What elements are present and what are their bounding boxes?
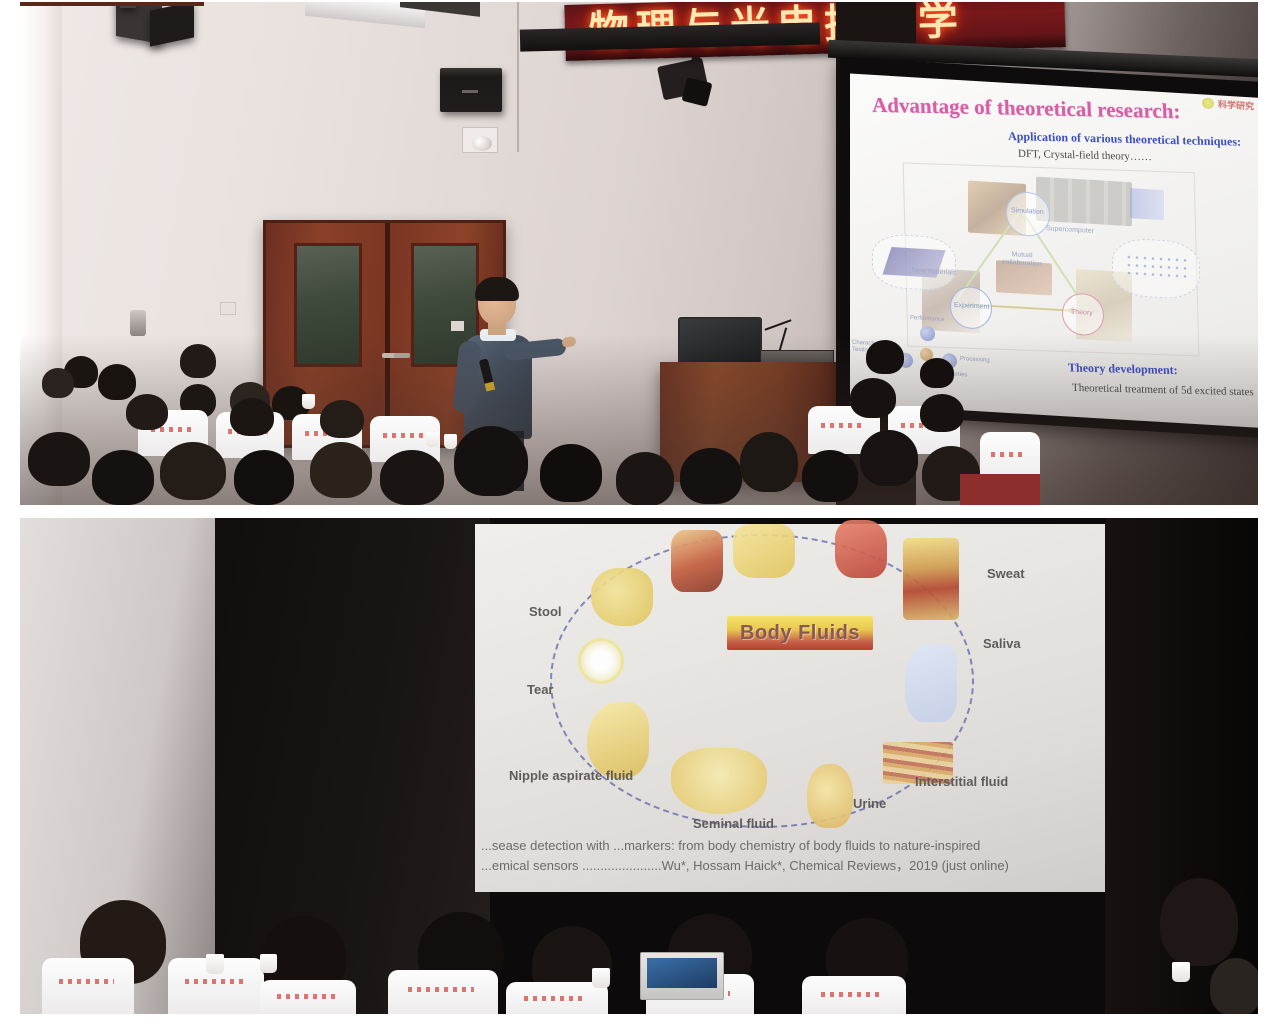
bottom-photo-panel: Body Fluids Stool Tear Nipple aspirate f…: [20, 518, 1258, 1014]
audience-head: [42, 368, 74, 398]
wall-cable: [517, 2, 519, 152]
audience-head: [920, 394, 964, 432]
audience-chair: [42, 958, 134, 1014]
slide-title: Advantage of theoretical research:: [872, 93, 1181, 125]
slide-center-title: Body Fluids: [727, 616, 873, 650]
audience-head: [1160, 878, 1238, 966]
audience-head: [28, 432, 90, 486]
photo-collage: 物理与光电技术学: [0, 0, 1280, 1024]
slide-label-saliva: Saliva: [983, 636, 1021, 651]
citation-line-2: ...emical sensors ......................…: [481, 856, 1101, 876]
slide-citation: ...sease detection with ...markers: from…: [481, 836, 1101, 876]
slide-label-nipple-aspirate-fluid: Nipple aspirate fluid: [509, 768, 633, 783]
podium-top-surface: [20, 2, 204, 6]
paper-cup: [1172, 962, 1190, 982]
security-camera-icon: [462, 127, 498, 153]
audience-head: [230, 398, 274, 436]
door-sign: [451, 321, 464, 331]
organ-colon-icon: [591, 568, 653, 626]
audience-head: [180, 344, 216, 378]
organ-skin-sweat-icon: [903, 538, 959, 620]
citation-line-1: ...sease detection with ...markers: from…: [481, 836, 1101, 856]
logo-emblem-icon: [1202, 97, 1214, 109]
slide-label-urine: Urine: [853, 796, 886, 811]
triangle-label-center: Mutual collaboration: [996, 250, 1048, 269]
logo-text: 科学研究: [1218, 97, 1254, 112]
projection-screen: Body Fluids Stool Tear Nipple aspirate f…: [475, 524, 1105, 892]
audience-head: [850, 378, 896, 418]
audience-head: [616, 452, 674, 505]
wall-plate: [220, 302, 236, 315]
slide-label-stool: Stool: [529, 604, 562, 619]
audience-seat-back: [960, 474, 1040, 505]
audience-head: [860, 430, 918, 486]
top-photo-panel: 物理与光电技术学: [20, 2, 1258, 505]
paper-cup: [302, 394, 315, 409]
organ-kidney-icon: [807, 764, 853, 828]
institution-logo: 科学研究: [1202, 96, 1258, 114]
paper-cup: [206, 954, 224, 974]
audience-head: [160, 442, 226, 500]
audience-head: [540, 444, 602, 502]
audience-head: [98, 364, 136, 400]
paper-cup: [444, 434, 457, 449]
audience-head: [310, 442, 372, 498]
paper-cup: [592, 968, 610, 988]
audience-head: [320, 400, 364, 438]
slide-label-interstitial-fluid: Interstitial fluid: [915, 774, 1008, 789]
organ-lungs-icon: [733, 524, 795, 578]
organ-reproductive-icon: [671, 748, 767, 814]
audience-chair: [260, 980, 356, 1014]
organ-breast-icon: [587, 702, 649, 778]
audience-head: [234, 450, 294, 505]
organ-blood-vessel-icon: [835, 520, 887, 578]
audience-head: [802, 450, 858, 502]
audience-chair: [506, 982, 608, 1014]
audience-chair: [388, 970, 498, 1014]
audience-head: [680, 448, 742, 504]
attendee-laptop: [640, 952, 724, 1000]
audience-head: [126, 394, 168, 430]
new-materials-cloud: [872, 233, 956, 292]
organ-tear-icon: [578, 638, 624, 684]
slide-subtitle-detail: DFT, Crystal-field theory……: [1018, 148, 1152, 163]
audience-head: [380, 450, 444, 505]
slide-center-title-text: Body Fluids: [740, 622, 860, 645]
slide-label-seminal-fluid: Seminal fluid: [693, 816, 774, 831]
presenter-hair: [475, 277, 519, 301]
audience-head: [920, 358, 954, 388]
slide-label-sweat: Sweat: [987, 566, 1025, 581]
wall-sconce-icon: [130, 310, 146, 336]
slide-subtitle: Application of various theoretical techn…: [1008, 129, 1241, 150]
compute-cluster-thumbnail: [1130, 188, 1164, 220]
slide-label-tear: Tear: [527, 682, 554, 697]
triangle-label-theory: Theory: [1071, 309, 1093, 317]
organ-head-icon: [671, 530, 723, 592]
wall-speaker-icon: [440, 68, 502, 112]
audience-head: [866, 340, 904, 374]
audience-head: [454, 426, 528, 496]
organ-head-saliva-icon: [905, 644, 957, 722]
audience-head: [92, 450, 154, 505]
audience-chair: [802, 976, 906, 1014]
audience-head: [740, 432, 798, 492]
node-label-performance: Performance: [910, 315, 944, 323]
paper-cup: [260, 954, 277, 973]
audience-head: [1210, 958, 1258, 1014]
molecular-structure-cloud: [1112, 237, 1200, 300]
paper-cup: [426, 432, 439, 447]
